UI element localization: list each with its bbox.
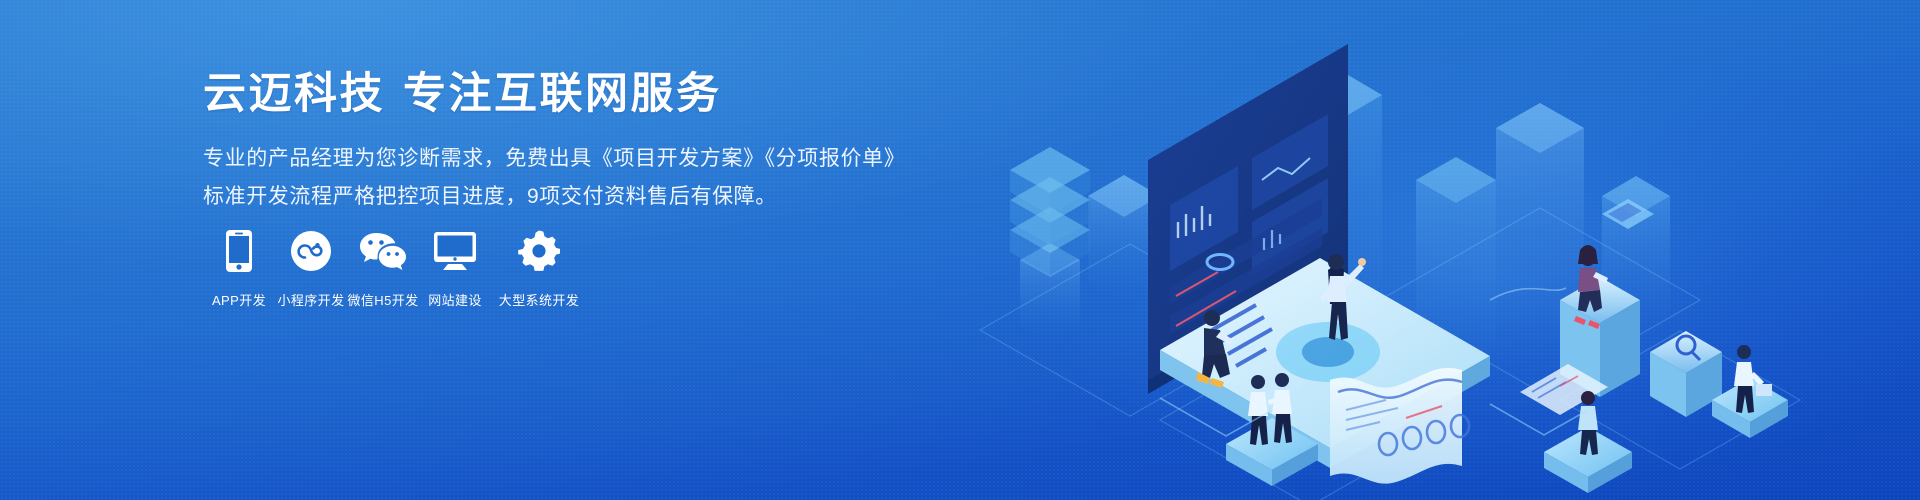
headline-brand: 云迈科技 [203, 70, 385, 118]
service-item-website[interactable]: 网站建设 [419, 228, 491, 309]
isometric-illustration [860, 0, 1920, 500]
service-item-large-system[interactable]: 大型系统开发 [491, 228, 587, 309]
service-label: APP开发 [212, 290, 266, 309]
service-label: 大型系统开发 [499, 290, 579, 309]
subtitle-line-2: 标准开发流程严格把控项目进度，9项交付资料售后有保障。 [203, 178, 963, 216]
hero-banner: 云迈科技专注互联网服务 专业的产品经理为您诊断需求，免费出具《项目开发方案》《分… [0, 0, 1920, 500]
monitor-icon [433, 228, 477, 274]
service-label: 网站建设 [428, 290, 482, 309]
service-label: 微信H5开发 [347, 290, 418, 309]
banner-copy: 云迈科技专注互联网服务 专业的产品经理为您诊断需求，免费出具《项目开发方案》《分… [203, 70, 963, 217]
subtitle-line-1: 专业的产品经理为您诊断需求，免费出具《项目开发方案》《分项报价单》 [203, 140, 963, 178]
headline-tagline: 专注互联网服务 [403, 70, 722, 118]
mobile-phone-icon [226, 228, 252, 274]
background-glow [883, 0, 1920, 500]
service-item-wechat-h5[interactable]: 微信H5开发 [347, 228, 419, 309]
page-title: 云迈科技专注互联网服务 [203, 70, 963, 118]
mini-program-icon [291, 228, 331, 274]
service-list: APP开发 小程序开发 [203, 228, 587, 309]
gear-icon [518, 228, 560, 274]
banner-subtitle: 专业的产品经理为您诊断需求，免费出具《项目开发方案》《分项报价单》 标准开发流程… [203, 140, 963, 216]
service-label: 小程序开发 [277, 290, 344, 309]
wechat-icon [359, 228, 407, 274]
service-item-app[interactable]: APP开发 [203, 228, 275, 309]
service-item-mini-program[interactable]: 小程序开发 [275, 228, 347, 309]
